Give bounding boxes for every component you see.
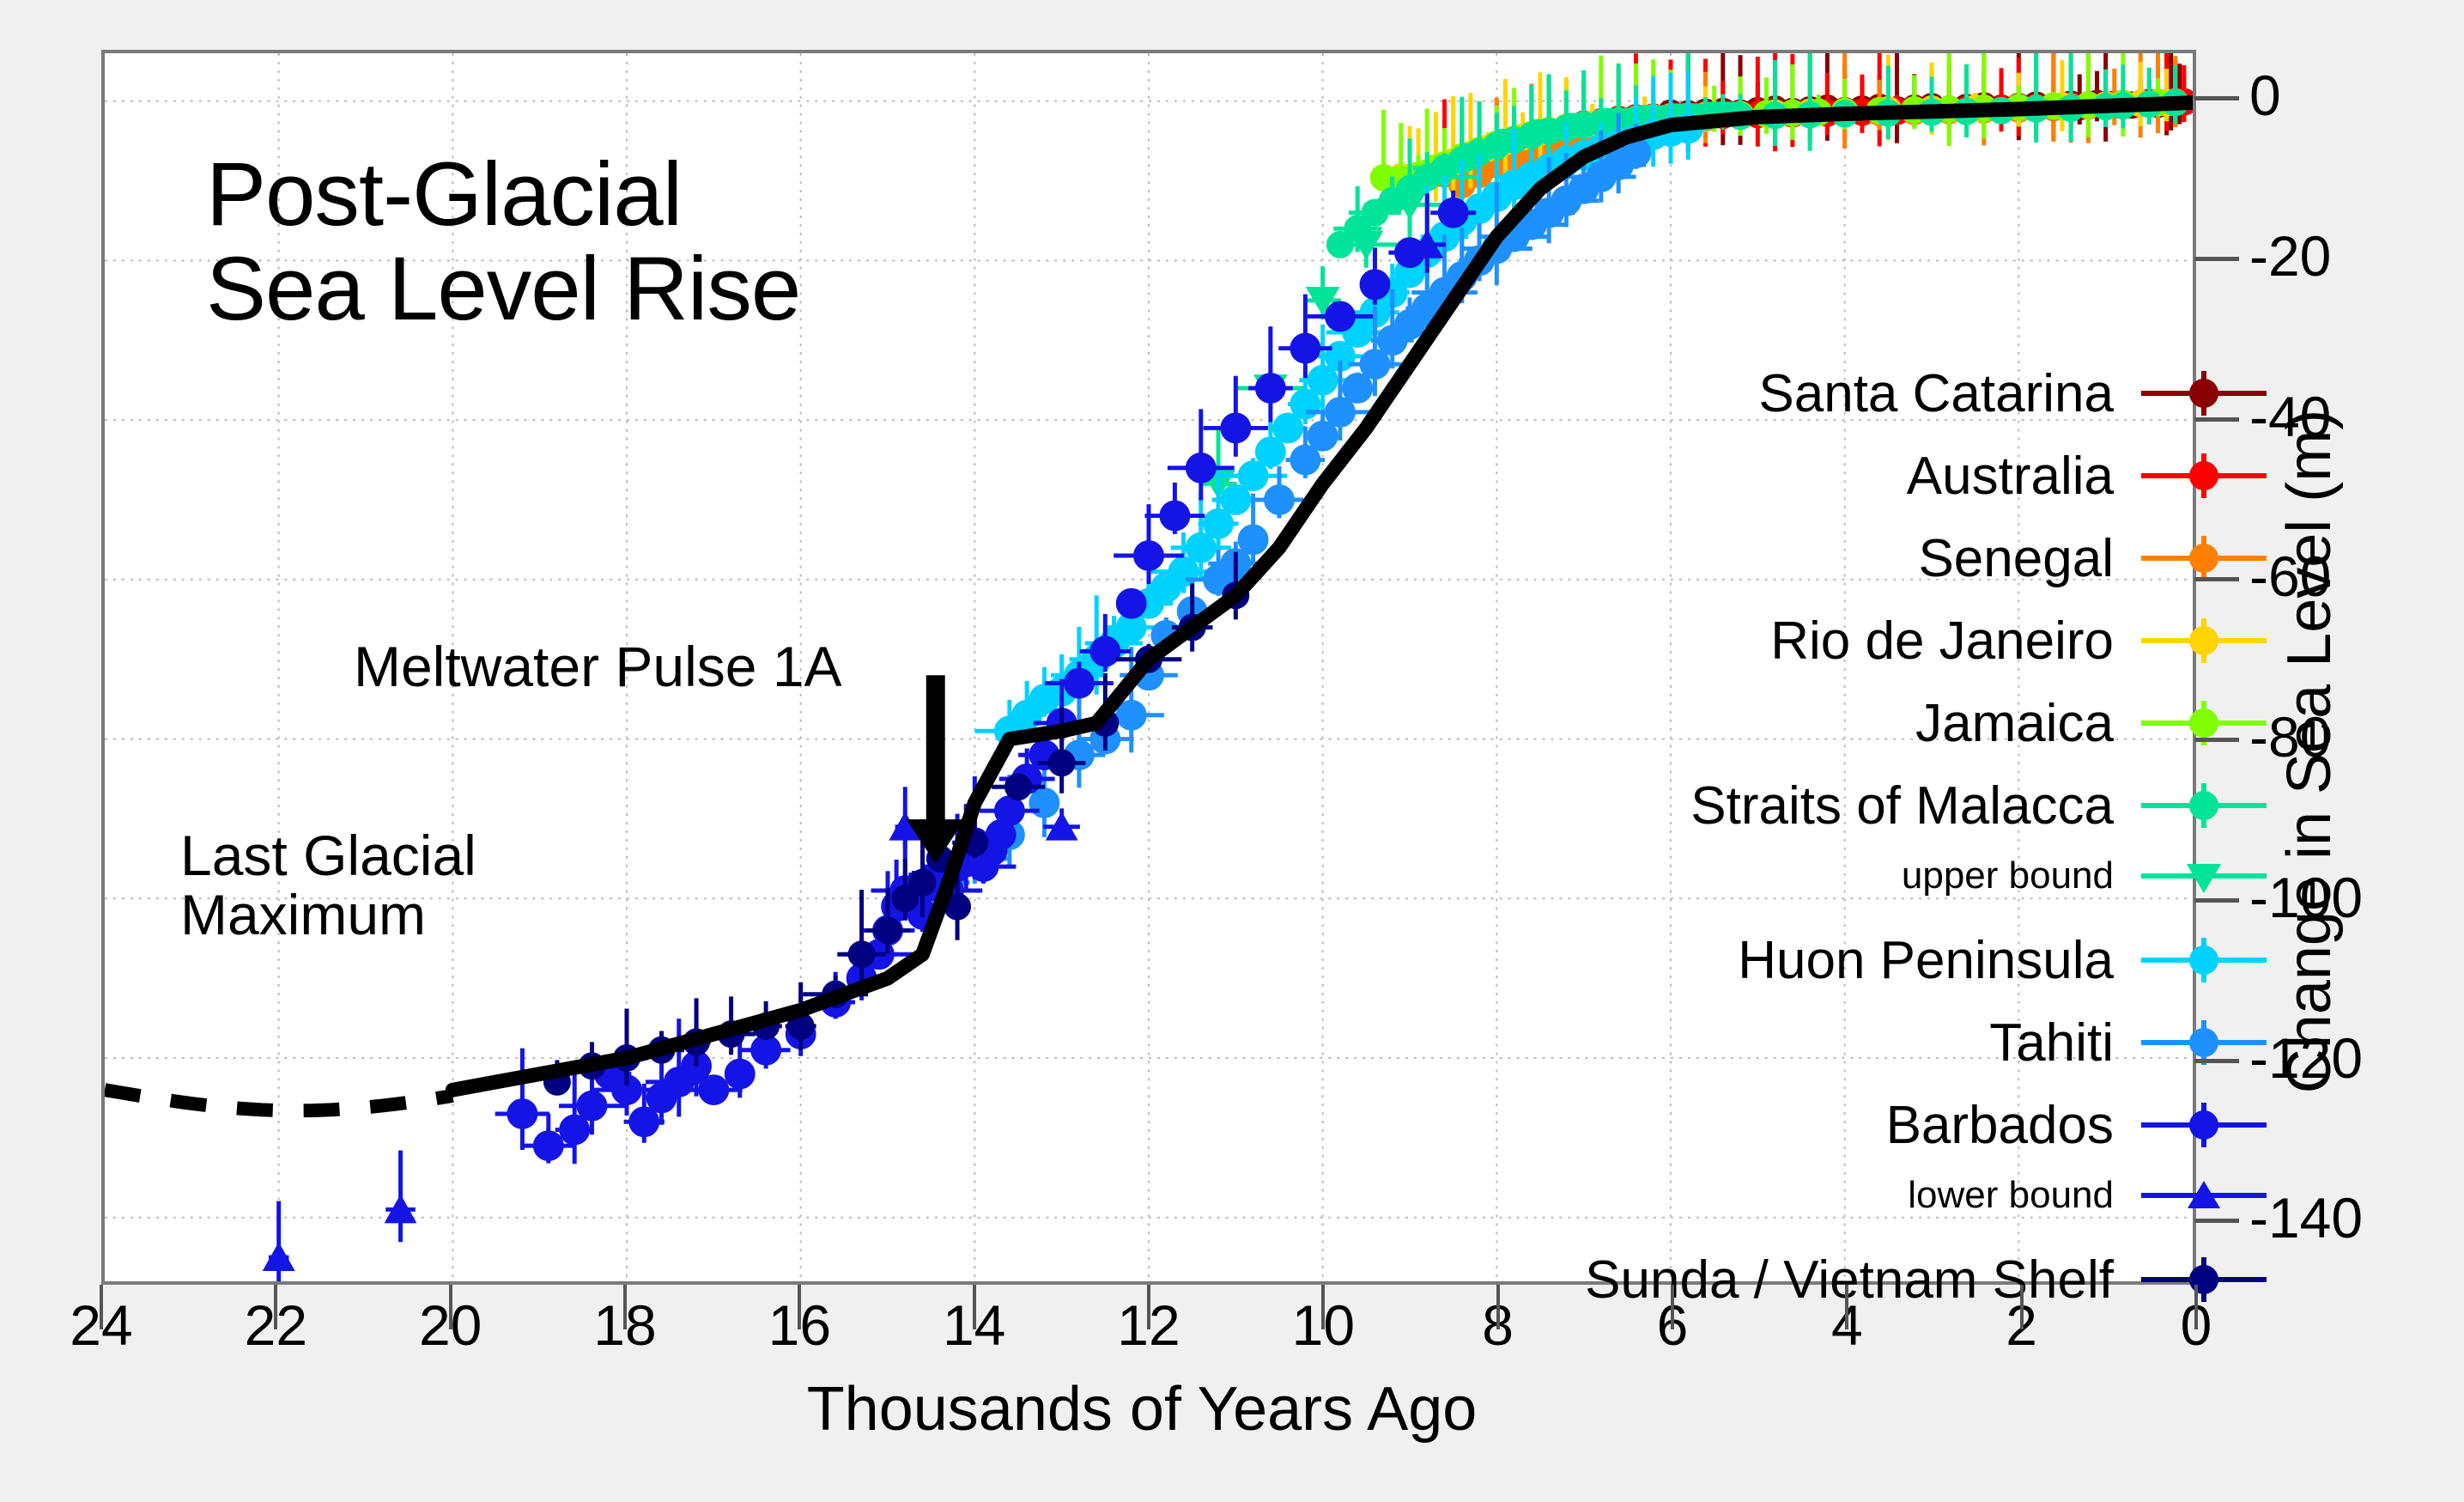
legend-item-label: upper bound — [1902, 854, 2122, 897]
y-axis-title: Change in Sea Level (m) — [2274, 409, 2345, 1092]
y-tick-label: -140 — [2249, 1185, 2363, 1250]
legend-item-label: Barbados — [1886, 1095, 2122, 1156]
legend-marker-circle-icon — [2122, 446, 2285, 506]
x-tick-mark — [274, 1285, 277, 1329]
x-tick-mark — [1496, 1285, 1500, 1329]
legend-marker-circle-icon — [2122, 611, 2285, 671]
x-tick-mark — [623, 1285, 627, 1329]
figure-canvas: Post-GlacialSea Level Rise Last GlacialM… — [0, 0, 2464, 1502]
legend-item-label: Straits of Malacca — [1690, 775, 2122, 836]
title-line-2: Sea Level Rise — [206, 239, 800, 339]
title-line-1: Post-Glacial — [206, 144, 682, 245]
y-tick-mark — [2194, 577, 2239, 581]
y-tick-mark — [2194, 417, 2239, 422]
legend-marker-circle-icon — [2122, 930, 2285, 990]
lgm-line-1: Last Glacial — [180, 824, 476, 887]
y-tick-mark — [2194, 738, 2239, 742]
legend-item-label: Australia — [1907, 446, 2122, 507]
lgm-line-2: Maximum — [180, 883, 426, 946]
annotation-last-glacial-maximum: Last GlacialMaximum — [180, 826, 476, 946]
plot-area: Post-GlacialSea Level Rise Last GlacialM… — [101, 50, 2196, 1285]
legend-item-label: Jamaica — [1915, 693, 2122, 754]
y-tick-mark — [2194, 1219, 2239, 1223]
x-tick-mark — [449, 1285, 452, 1329]
x-tick-mark — [1845, 1285, 1848, 1329]
y-tick-mark — [2194, 257, 2239, 261]
legend-item-label: Tahiti — [1989, 1012, 2122, 1073]
legend-marker-circle-icon — [2122, 775, 2285, 836]
y-tick-label: 0 — [2249, 63, 2281, 128]
legend-item-label: Huon Peninsula — [1738, 930, 2122, 991]
legend-item-label: lower bound — [1908, 1174, 2122, 1217]
x-tick-mark — [1671, 1285, 1674, 1329]
x-tick-mark — [2020, 1285, 2024, 1329]
series-lower-bound — [263, 193, 1446, 1281]
legend-marker-circle-icon — [2122, 1095, 2285, 1155]
x-tick-mark — [2194, 1285, 2198, 1329]
y-tick-label: -20 — [2249, 223, 2331, 289]
x-tick-mark — [1321, 1285, 1325, 1329]
y-tick-mark — [2194, 898, 2239, 903]
x-axis-title: Thousands of Years Ago — [0, 1374, 2284, 1444]
legend-item-label: Santa Catarina — [1758, 363, 2122, 424]
x-tick-mark — [1147, 1285, 1150, 1329]
y-tick-mark — [2194, 1059, 2239, 1063]
x-tick-mark — [973, 1285, 976, 1329]
x-tick-mark — [798, 1285, 801, 1329]
legend-item-label: Senegal — [1918, 528, 2122, 589]
legend-item-label: Rio de Janeiro — [1770, 611, 2122, 672]
annotation-meltwater-pulse-1a: Meltwater Pulse 1A — [354, 637, 842, 696]
x-tick-mark — [100, 1285, 103, 1329]
page-title: Post-GlacialSea Level Rise — [206, 148, 800, 337]
y-tick-mark — [2194, 96, 2239, 100]
